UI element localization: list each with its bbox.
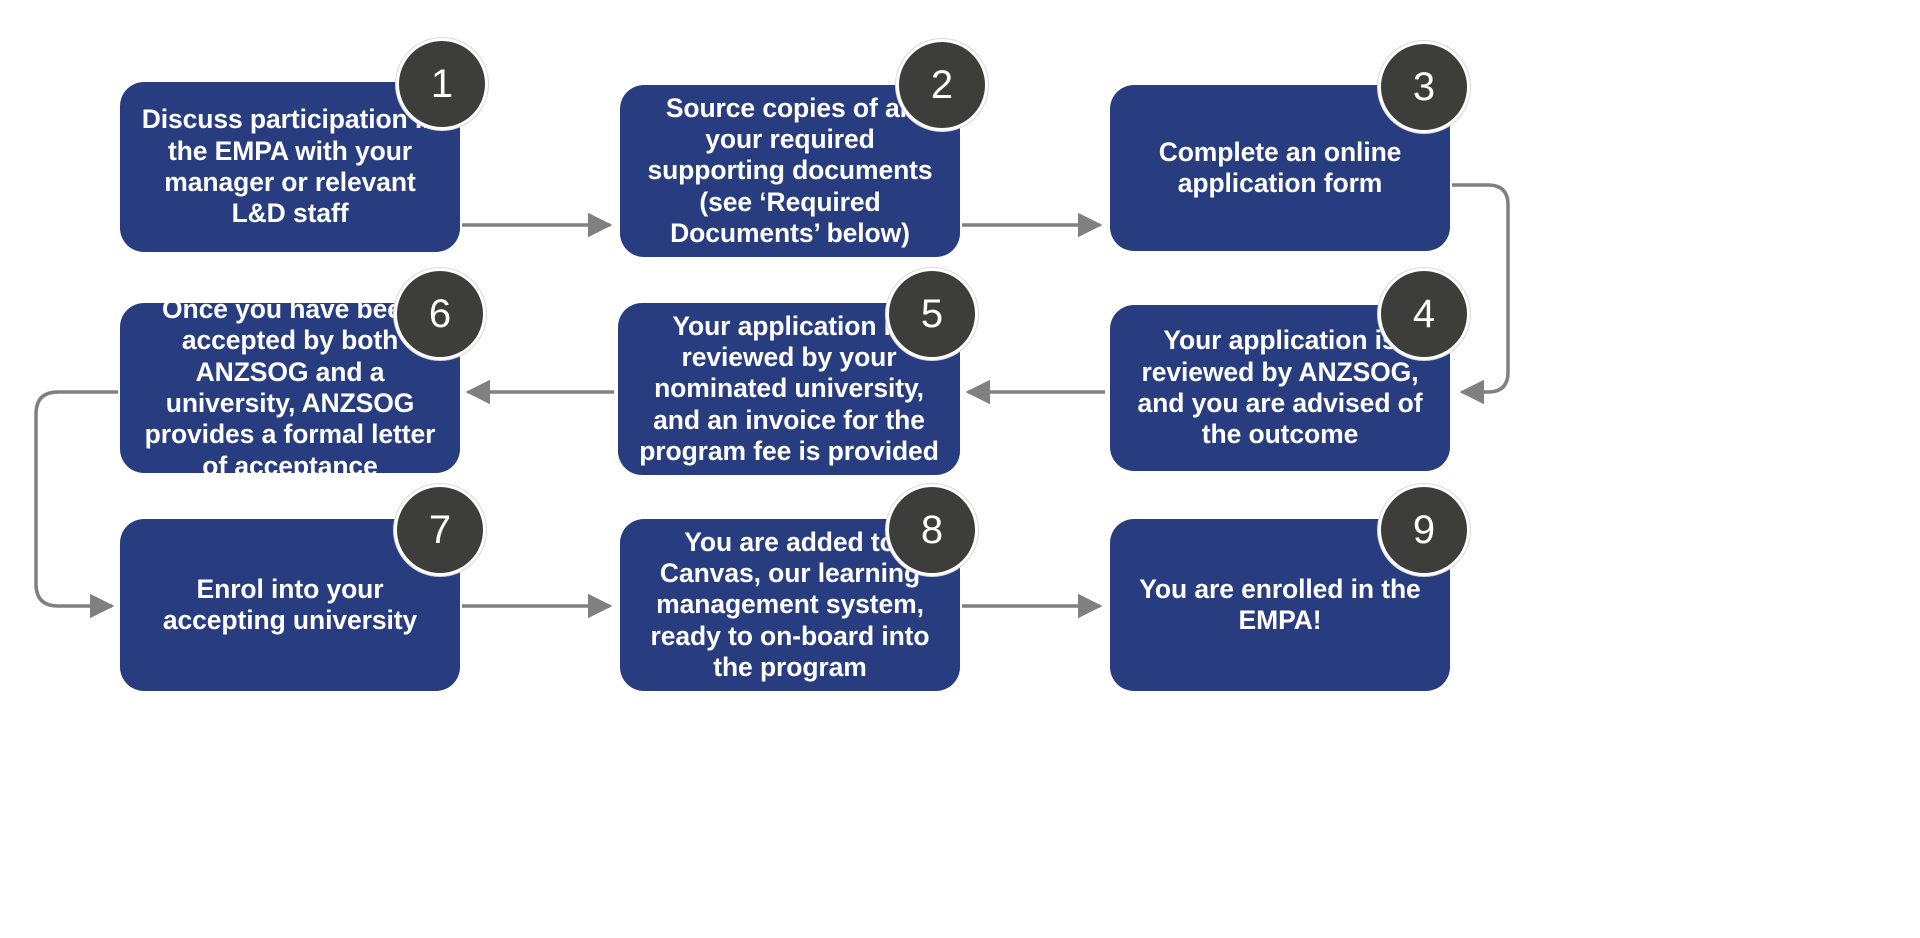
flow-node-7-label: Enrol into your accepting university bbox=[138, 574, 442, 637]
flow-node-1-number: 1 bbox=[431, 64, 453, 104]
flow-node-2-label: Source copies of all your required suppo… bbox=[638, 93, 942, 249]
flow-node-7-badge: 7 bbox=[394, 484, 486, 576]
flow-node-5-number: 5 bbox=[921, 294, 943, 334]
flow-node-1-badge: 1 bbox=[396, 38, 488, 130]
flow-node-2-number: 2 bbox=[931, 65, 953, 105]
flow-node-3-number: 3 bbox=[1413, 67, 1435, 107]
flow-node-6-badge: 6 bbox=[394, 268, 486, 360]
arrow-6-to-7 bbox=[36, 392, 118, 606]
flow-node-5-badge: 5 bbox=[886, 268, 978, 360]
flow-node-4-badge: 4 bbox=[1378, 268, 1470, 360]
flow-node-2-badge: 2 bbox=[896, 39, 988, 131]
flow-node-4-label: Your application is reviewed by ANZSOG, … bbox=[1128, 325, 1432, 450]
flow-node-3-label: Complete an online application form bbox=[1128, 137, 1432, 200]
flow-node-6-number: 6 bbox=[429, 294, 451, 334]
flow-node-9-badge: 9 bbox=[1378, 484, 1470, 576]
flow-node-4-number: 4 bbox=[1413, 294, 1435, 334]
flow-node-8-badge: 8 bbox=[886, 484, 978, 576]
flow-node-1-label: Discuss participation in the EMPA with y… bbox=[138, 104, 442, 229]
flow-node-7-number: 7 bbox=[429, 510, 451, 550]
flowchart-canvas: Discuss participation in the EMPA with y… bbox=[0, 0, 1920, 938]
flow-node-9-number: 9 bbox=[1413, 510, 1435, 550]
flow-node-8-number: 8 bbox=[921, 510, 943, 550]
flow-node-3-badge: 3 bbox=[1378, 41, 1470, 133]
flow-node-9-label: You are enrolled in the EMPA! bbox=[1128, 574, 1432, 637]
